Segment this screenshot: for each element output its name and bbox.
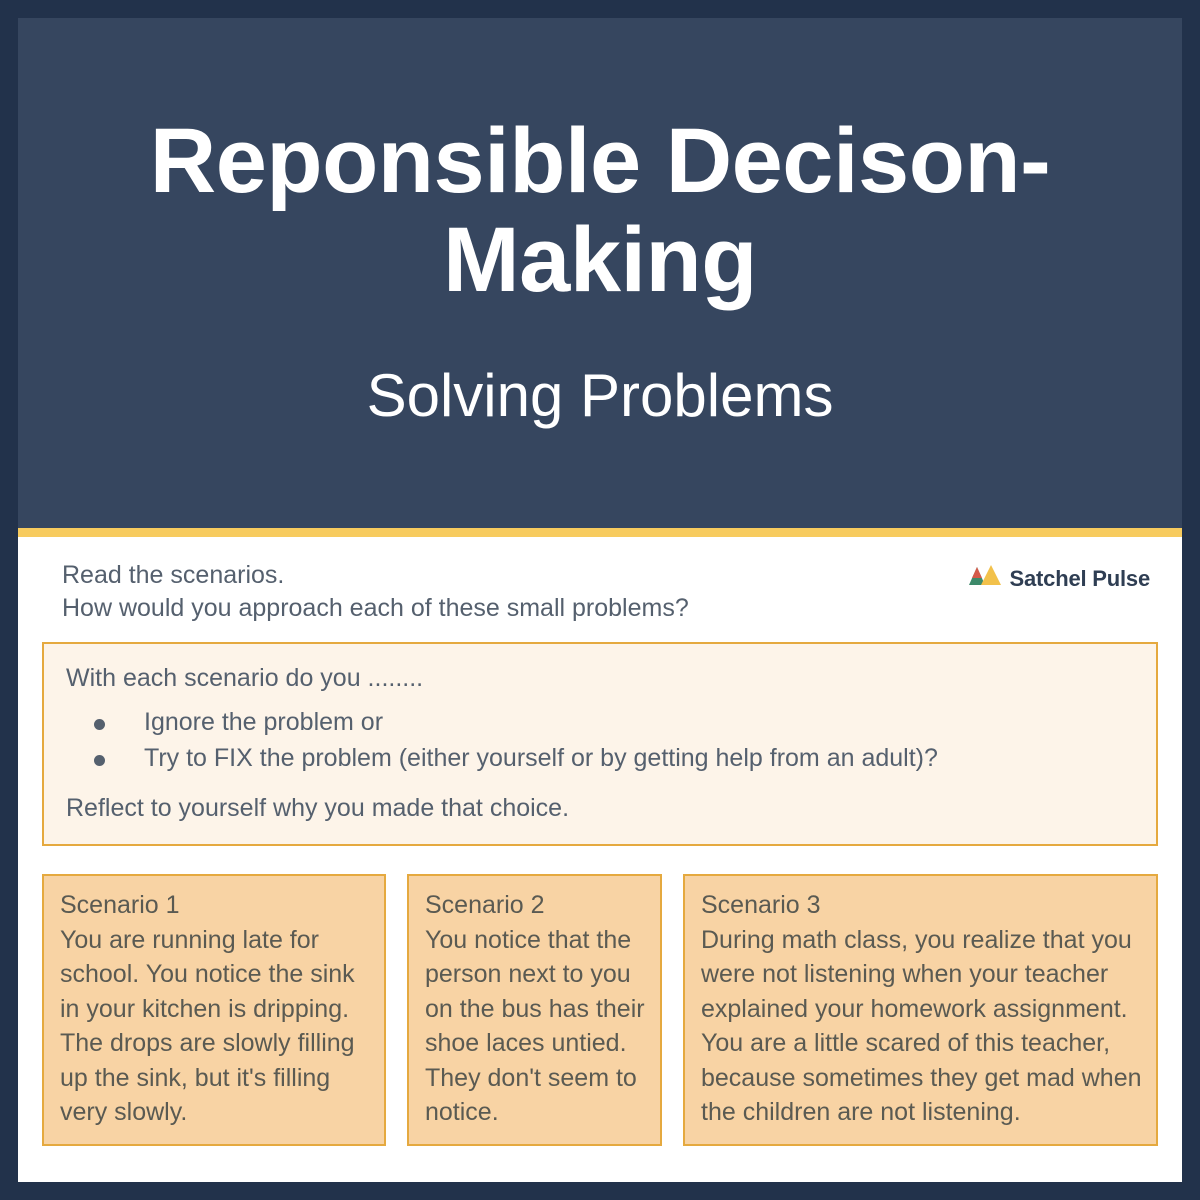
question-lead: With each scenario do you ........	[66, 662, 1134, 695]
scenario-card-list: Scenario 1 You are running late for scho…	[42, 874, 1158, 1146]
gold-divider	[18, 528, 1182, 537]
scenario-label: Scenario 1	[60, 888, 370, 923]
content-panel: Read the scenarios. How would you approa…	[18, 537, 1182, 1182]
scenario-card: Scenario 2 You notice that the person ne…	[407, 874, 662, 1146]
question-option: Ignore the problem or	[66, 706, 1134, 739]
reflect-text: Reflect to yourself why you made that ch…	[66, 792, 1134, 825]
scenario-label: Scenario 2	[425, 888, 646, 923]
brand-name: Satchel Pulse	[1010, 566, 1150, 592]
page-subtitle: Solving Problems	[367, 363, 834, 429]
question-box: With each scenario do you ........ Ignor…	[42, 642, 1158, 847]
scenario-card: Scenario 3 During math class, you realiz…	[683, 874, 1158, 1146]
brand-logo: Satchel Pulse	[968, 559, 1156, 592]
question-options-list: Ignore the problem or Try to FIX the pro…	[66, 706, 1134, 776]
question-option: Try to FIX the problem (either yourself …	[66, 742, 1134, 775]
read-instructions-text: Read the scenarios. How would you approa…	[62, 559, 689, 626]
slide-root: Reponsible Decison-Making Solving Proble…	[0, 0, 1200, 1200]
scenario-card: Scenario 1 You are running late for scho…	[42, 874, 386, 1146]
instructions-row: Read the scenarios. How would you approa…	[36, 559, 1164, 626]
scenario-text: You are running late for school. You not…	[60, 923, 370, 1130]
scenario-label: Scenario 3	[701, 888, 1142, 923]
header-panel: Reponsible Decison-Making Solving Proble…	[18, 18, 1182, 528]
two-mountains-icon	[968, 565, 1002, 592]
page-title: Reponsible Decison-Making	[100, 112, 1100, 311]
scenario-text: During math class, you realize that you …	[701, 923, 1142, 1130]
scenario-text: You notice that the person next to you o…	[425, 923, 646, 1130]
